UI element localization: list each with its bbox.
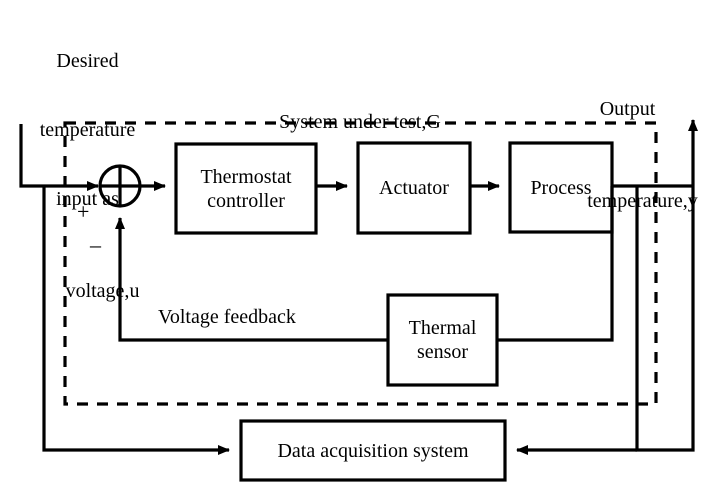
controller-label-line-2: controller <box>200 189 291 213</box>
controller-block-label: Thermostat controller <box>176 144 316 233</box>
daq-block-label: Data acquisition system <box>241 421 505 480</box>
actuator-block-label: Actuator <box>358 143 470 233</box>
process-label-line-1: Process <box>530 176 591 200</box>
controller-label-line-1: Thermostat <box>200 165 291 189</box>
input-signal-symbol: u <box>129 280 139 302</box>
sum-minus-sign: – <box>90 234 101 256</box>
block-diagram: Desired temperature input as voltage,u O… <box>0 0 710 482</box>
voltage-feedback-label: Voltage feedback <box>158 306 378 329</box>
daq-label-line-1: Data acquisition system <box>277 439 468 463</box>
sum-plus-sign: + <box>77 201 89 223</box>
output-signal-symbol: y <box>688 190 698 212</box>
thermal-sensor-block-label: Thermal sensor <box>388 295 497 385</box>
input-label-line-1: Desired <box>0 50 175 73</box>
input-label-line-4-text: voltage, <box>66 280 130 302</box>
input-label-line-2: temperature <box>0 119 175 142</box>
input-label-line-4: voltage,u <box>0 257 175 326</box>
actuator-label-line-1: Actuator <box>379 176 449 200</box>
system-under-test-caption-text: System under test, <box>279 111 426 133</box>
input-label: Desired temperature input as voltage,u <box>0 4 175 372</box>
output-label-line-1: Output <box>545 98 710 121</box>
thermal-sensor-label-line-1: Thermal <box>409 316 477 340</box>
system-under-test-symbol: G <box>426 111 440 133</box>
thermal-sensor-label-line-2: sensor <box>409 340 477 364</box>
process-block-label: Process <box>510 143 612 232</box>
